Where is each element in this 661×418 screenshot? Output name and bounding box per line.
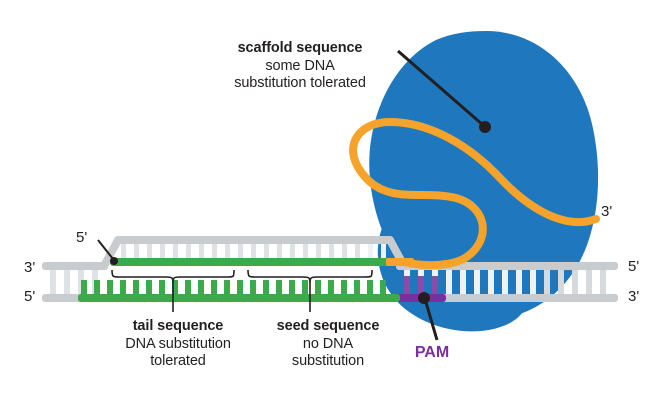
scaffold-label-line2: some DNA — [185, 58, 415, 76]
scaffold-3prime-end-label: 3' — [601, 203, 612, 220]
dna-left-bottom-5prime-end-label: 5' — [24, 288, 35, 305]
guide-rna-green-line — [110, 258, 398, 266]
scaffold-label-head: scaffold sequence — [185, 40, 415, 58]
target-strand-teeth — [81, 280, 386, 296]
tail-label-head: tail sequence — [98, 318, 258, 336]
seed-label-head: seed sequence — [258, 318, 398, 336]
pam-label-head: PAM — [415, 344, 449, 361]
scaffold-label-line3: substitution tolerated — [185, 75, 415, 93]
scaffold-leader-dot — [479, 121, 491, 133]
seed-label-line2: no DNA — [258, 336, 398, 354]
tail-label-line3: tolerated — [98, 353, 258, 371]
dna-right-top-5prime-end-label: 5' — [628, 258, 639, 275]
pam-annotation: PAM — [392, 343, 472, 363]
dna-left-top-3prime-end-label: 3' — [24, 259, 35, 276]
target-strand-backbone — [78, 294, 400, 302]
target-strand-green — [78, 280, 400, 302]
guide-5prime-leader-dot — [110, 257, 118, 265]
tail-annotation: tail sequence DNA substitution tolerated — [98, 318, 258, 371]
seed-label-line3: substitution — [258, 353, 398, 371]
pam-leader-dot — [418, 292, 430, 304]
guide-5prime-end-label: 5' — [76, 229, 87, 246]
tail-label-line2: DNA substitution — [98, 336, 258, 354]
seed-annotation: seed sequence no DNA substitution — [258, 318, 398, 371]
guide-rna-spacer — [110, 258, 414, 266]
scaffold-annotation: scaffold sequence some DNA substitution … — [185, 40, 415, 93]
figure-canvas: scaffold sequence some DNA substitution … — [0, 0, 661, 418]
dna-right-bottom-3prime-end-label: 3' — [628, 288, 639, 305]
dna-left-top-backbone — [42, 262, 108, 270]
